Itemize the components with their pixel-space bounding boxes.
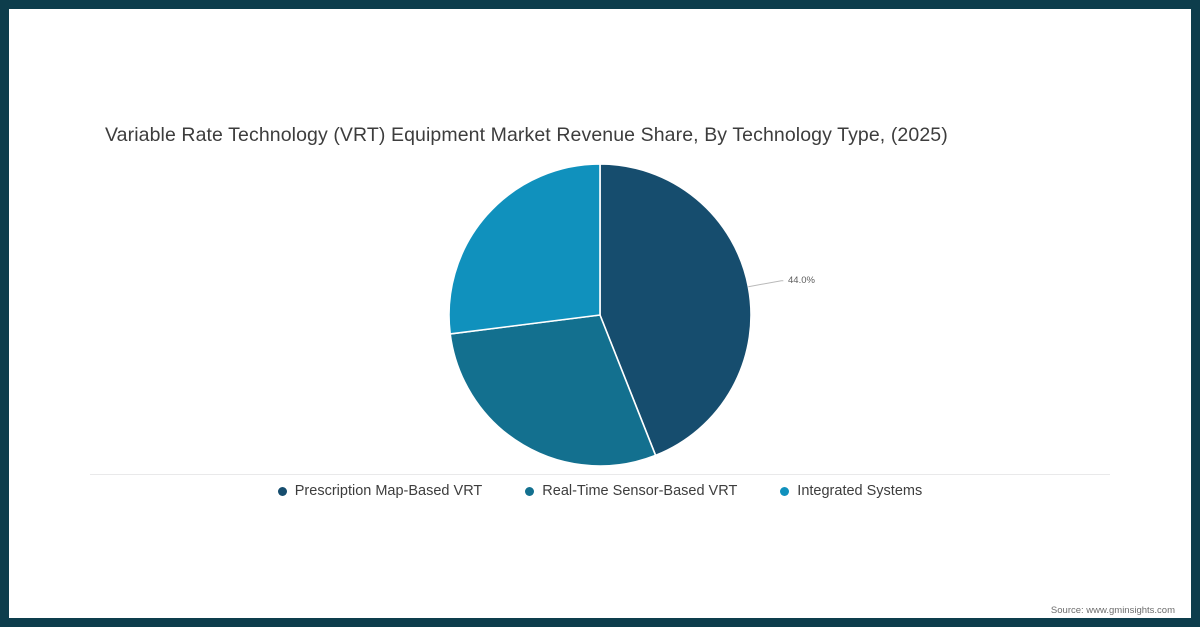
pie-slice-2[interactable] <box>449 164 600 334</box>
legend-marker-icon-0 <box>278 487 287 496</box>
data-label-leader-line <box>748 281 783 287</box>
source-attribution: Source: www.gminsights.com <box>1051 605 1175 616</box>
legend-label-1: Real-Time Sensor-Based VRT <box>542 481 737 501</box>
pie-chart-svg <box>0 0 1200 627</box>
legend-divider <box>90 474 1110 475</box>
legend-marker-icon-2 <box>780 487 789 496</box>
legend-marker-icon-1 <box>525 487 534 496</box>
pie-chart-area <box>0 0 1200 627</box>
pie-slice-group <box>449 164 751 466</box>
legend-item-real-time-sensor-based-vrt[interactable]: Real-Time Sensor-Based VRT <box>525 481 737 501</box>
legend-label-0: Prescription Map-Based VRT <box>295 481 483 501</box>
pie-data-label-0: 44.0% <box>788 275 815 286</box>
legend-item-prescription-map-based-vrt[interactable]: Prescription Map-Based VRT <box>278 481 483 501</box>
chart-legend: Prescription Map-Based VRT Real-Time Sen… <box>0 481 1200 501</box>
chart-canvas: Variable Rate Technology (VRT) Equipment… <box>0 0 1200 627</box>
legend-item-integrated-systems[interactable]: Integrated Systems <box>780 481 922 501</box>
legend-label-2: Integrated Systems <box>797 481 922 501</box>
